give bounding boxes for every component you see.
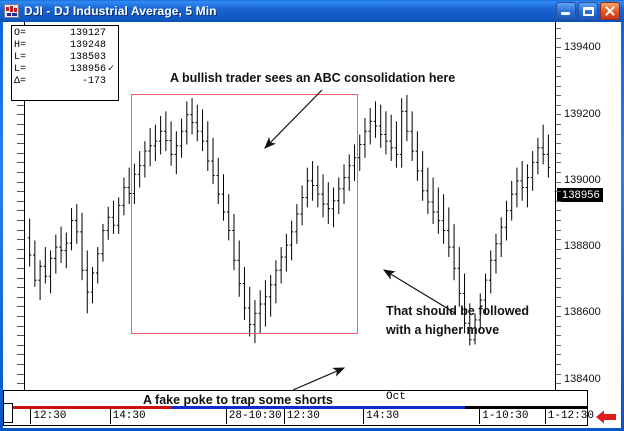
ohlc-bar bbox=[520, 161, 524, 201]
ohlc-bar bbox=[54, 235, 58, 274]
time-axis-label[interactable]: 14:30 bbox=[110, 409, 226, 424]
ohlc-bar bbox=[290, 221, 294, 261]
ohlc-bar bbox=[33, 240, 37, 286]
quote-value-last: 138956 bbox=[36, 64, 108, 76]
ohlc-bar bbox=[59, 227, 63, 263]
ohlc-bar bbox=[159, 116, 163, 154]
price-scale-label: 138400 bbox=[564, 373, 601, 385]
ohlc-bar bbox=[185, 101, 189, 144]
ohlc-bar bbox=[127, 168, 131, 204]
ohlc-bar bbox=[368, 108, 372, 144]
quote-value-change: -173 bbox=[36, 76, 108, 88]
price-scale-tick bbox=[556, 364, 561, 365]
quote-mark-change bbox=[108, 76, 115, 88]
quote-row-change: Δ= -173 bbox=[14, 76, 115, 88]
ohlc-bar bbox=[237, 240, 241, 296]
window-controls bbox=[556, 2, 620, 20]
price-scale-tick bbox=[556, 316, 561, 317]
ohlc-bar bbox=[489, 250, 493, 293]
ohlc-bar bbox=[416, 131, 420, 181]
ohlc-bar bbox=[80, 213, 84, 281]
ohlc-bar bbox=[222, 174, 226, 220]
price-scale-tick bbox=[556, 86, 561, 87]
quote-row-high: H= 139248 bbox=[14, 40, 115, 52]
price-scale-tick bbox=[556, 172, 561, 173]
price-scale-tick bbox=[556, 105, 561, 106]
maximize-button[interactable] bbox=[578, 2, 598, 20]
price-scale-tick bbox=[556, 383, 561, 384]
ohlc-bar bbox=[38, 260, 42, 300]
ohlc-bar bbox=[285, 234, 289, 272]
price-scale-label: 139000 bbox=[564, 174, 601, 186]
ohlc-bar bbox=[389, 115, 393, 161]
ohlc-bar bbox=[175, 131, 179, 174]
ohlc-bar bbox=[499, 217, 503, 257]
annotation-fake-poke: A fake poke to trap some shorts bbox=[143, 392, 333, 406]
price-scale-tick bbox=[556, 239, 561, 240]
ohlc-bar bbox=[536, 138, 540, 174]
chart-client-area: O= 139127 H= 139248 L= 138503 bbox=[3, 22, 621, 406]
ohlc-bar bbox=[49, 250, 53, 293]
quote-row-open: O= 139127 bbox=[14, 28, 115, 40]
ohlc-bar bbox=[547, 135, 551, 178]
time-axis-label[interactable]: 14:30 bbox=[363, 409, 479, 424]
time-axis-label[interactable]: 12:30 bbox=[284, 409, 363, 424]
price-scale-tick bbox=[556, 143, 561, 144]
screenshot-root: DJI - DJ Industrial Average, 5 Min bbox=[0, 0, 624, 431]
price-scale-tick bbox=[556, 230, 561, 231]
window-title: DJI - DJ Industrial Average, 5 Min bbox=[24, 4, 556, 18]
ohlc-bar bbox=[169, 121, 173, 165]
ohlc-bar bbox=[332, 188, 336, 228]
ohlc-bar bbox=[91, 267, 95, 303]
window-titlebar: DJI - DJ Industrial Average, 5 Min bbox=[0, 0, 624, 22]
quote-mark-open bbox=[108, 28, 115, 40]
ohlc-bar bbox=[347, 154, 351, 190]
ohlc-bar bbox=[274, 260, 278, 303]
ohlc-bar bbox=[358, 135, 362, 171]
ohlc-bar bbox=[44, 247, 48, 283]
ohlc-bar bbox=[190, 98, 194, 134]
ohlc-bar bbox=[437, 188, 441, 234]
ohlc-bar bbox=[65, 233, 69, 269]
ohlc-bar bbox=[442, 194, 446, 244]
ohlc-bar bbox=[85, 250, 89, 313]
chart-plot-area[interactable]: O= 139127 H= 139248 L= 138503 bbox=[3, 22, 555, 406]
ohlc-bar bbox=[337, 178, 341, 214]
price-scale-tick bbox=[556, 278, 561, 279]
ohlc-bar bbox=[180, 119, 184, 158]
ohlc-bar bbox=[269, 275, 273, 317]
ohlc-bar bbox=[321, 174, 325, 217]
ohlc-bar bbox=[258, 290, 262, 333]
ohlc-bar bbox=[148, 128, 152, 166]
ohlc-bar bbox=[400, 98, 404, 168]
price-scale-label: 139400 bbox=[564, 41, 601, 53]
ohlc-bar bbox=[138, 151, 142, 187]
price-scale-tick bbox=[556, 210, 561, 211]
ohlc-bar bbox=[505, 201, 509, 241]
price-scale-tick bbox=[556, 354, 561, 355]
ohlc-bar bbox=[70, 208, 74, 250]
price-scale-tick bbox=[556, 249, 561, 250]
ohlc-bar bbox=[143, 141, 147, 177]
annotation-higher-move-line1: That should be followed bbox=[386, 303, 529, 319]
quote-value-low: 138503 bbox=[36, 52, 108, 64]
ohlc-bar bbox=[211, 138, 215, 184]
price-scale-tick bbox=[556, 287, 561, 288]
quote-value-high: 139248 bbox=[36, 40, 108, 52]
ohlc-quote-box: O= 139127 H= 139248 L= 138503 bbox=[11, 25, 119, 101]
quote-mark-low bbox=[108, 52, 115, 64]
price-scale-tick bbox=[556, 297, 561, 298]
chart-window: DJI - DJ Industrial Average, 5 Min bbox=[0, 0, 624, 431]
price-scale-tick bbox=[556, 374, 561, 375]
ohlc-bar bbox=[232, 214, 236, 270]
price-scale-tick bbox=[556, 268, 561, 269]
ohlc-bar bbox=[410, 111, 414, 161]
ohlc-bar bbox=[374, 101, 378, 137]
ohlc-bar bbox=[379, 105, 383, 148]
price-scale-tick bbox=[556, 326, 561, 327]
ohlc-bar bbox=[384, 111, 388, 154]
price-scale-tick bbox=[556, 66, 561, 67]
quote-label-last: L= bbox=[14, 64, 36, 76]
time-axis-label[interactable]: 12:30 bbox=[30, 409, 109, 424]
price-scale-tick bbox=[556, 47, 561, 48]
price-scale-tick bbox=[556, 57, 561, 58]
ohlc-bar bbox=[28, 219, 32, 267]
current-price-label: 138956 bbox=[557, 188, 603, 202]
ohlc-bar bbox=[248, 287, 252, 337]
ohlc-bar bbox=[531, 151, 535, 191]
ohlc-bar bbox=[494, 234, 498, 274]
ohlc-bar bbox=[243, 267, 247, 320]
ohlc-bar bbox=[541, 125, 545, 165]
ohlc-bar bbox=[515, 168, 519, 208]
ohlc-bar bbox=[264, 280, 268, 326]
price-scale-tick bbox=[556, 134, 561, 135]
ohlc-bar bbox=[431, 178, 435, 224]
quote-label-high: H= bbox=[14, 40, 36, 52]
ohlc-bar bbox=[117, 197, 121, 233]
ohlc-bar bbox=[106, 207, 110, 240]
annotation-bullish-trader: A bullish trader sees an ABC consolidati… bbox=[170, 70, 455, 86]
ohlc-bar bbox=[327, 182, 331, 224]
price-scale[interactable]: 138956 139400139200139000138800138600138… bbox=[555, 22, 621, 406]
price-scale-tick bbox=[556, 124, 561, 125]
price-scale-tick bbox=[556, 95, 561, 96]
quote-label-open: O= bbox=[14, 28, 36, 40]
price-scale-tick bbox=[556, 201, 561, 202]
ohlc-bar bbox=[101, 224, 105, 262]
quote-mark-last: ✓ bbox=[108, 64, 115, 76]
quote-label-change: Δ= bbox=[14, 76, 36, 88]
ohlc-bar bbox=[122, 178, 126, 216]
ohlc-bar bbox=[447, 207, 451, 257]
price-scale-tick bbox=[556, 76, 561, 77]
ohlc-bar bbox=[458, 247, 462, 307]
ohlc-bar bbox=[342, 164, 346, 204]
ohlc-bar bbox=[405, 95, 409, 141]
ohlc-bar bbox=[363, 118, 367, 158]
quote-label-low: L= bbox=[14, 52, 36, 64]
price-scale-tick bbox=[556, 38, 561, 39]
ohlc-bar bbox=[154, 125, 158, 161]
ohlc-bar bbox=[133, 164, 137, 204]
ohlc-bar bbox=[421, 151, 425, 201]
ohlc-bar bbox=[510, 181, 514, 221]
ohlc-bar bbox=[227, 194, 231, 240]
ohlc-bar bbox=[253, 300, 257, 343]
time-label-row[interactable]: 12:3014:3028-10:3012:3014:301-10:301-12:… bbox=[3, 409, 588, 426]
price-scale-label: 138800 bbox=[564, 240, 601, 252]
ohlc-bar bbox=[206, 121, 210, 171]
quote-mark-high bbox=[108, 40, 115, 52]
price-scale-tick bbox=[556, 220, 561, 221]
time-axis-label[interactable]: 1-10:30 bbox=[479, 409, 544, 424]
price-scale-tick bbox=[556, 114, 561, 115]
ohlc-bar bbox=[316, 166, 320, 208]
ohlc-bar bbox=[201, 109, 205, 151]
ohlc-bar bbox=[306, 168, 310, 208]
ohlc-bar bbox=[395, 121, 399, 167]
ohlc-bar bbox=[426, 168, 430, 214]
price-scale-tick bbox=[556, 258, 561, 259]
ohlc-bar bbox=[216, 158, 220, 204]
price-scale-tick bbox=[556, 182, 561, 183]
scroll-handle[interactable] bbox=[3, 403, 13, 423]
quote-row-low: L= 138503 bbox=[14, 52, 115, 64]
price-scale-tick bbox=[556, 28, 561, 29]
ohlc-bar bbox=[164, 111, 168, 151]
price-scale-tick bbox=[556, 162, 561, 163]
price-scale-tick bbox=[556, 153, 561, 154]
scroll-left-arrow-icon[interactable] bbox=[595, 409, 617, 425]
ohlc-bar bbox=[112, 201, 116, 234]
price-scale-tick bbox=[556, 191, 561, 192]
price-scale-label: 139200 bbox=[564, 108, 601, 120]
close-button[interactable] bbox=[600, 2, 620, 20]
ohlc-bar bbox=[196, 105, 200, 141]
price-scale-tick bbox=[556, 306, 561, 307]
price-scale-tick bbox=[556, 345, 561, 346]
chart-app-icon bbox=[4, 4, 19, 18]
price-scale-tick bbox=[556, 335, 561, 336]
ohlc-bar bbox=[295, 204, 299, 244]
ohlc-bar bbox=[526, 164, 530, 207]
ohlc-bar bbox=[75, 204, 79, 244]
minimize-button[interactable] bbox=[556, 2, 576, 20]
ohlc-bar bbox=[300, 186, 304, 226]
time-axis-footer: Oct 12:3014:3028-10:3012:3014:301-10:301… bbox=[3, 406, 621, 428]
ohlc-bar bbox=[96, 247, 100, 283]
quote-row-last: L= 138956 ✓ bbox=[14, 64, 115, 76]
ohlc-bar bbox=[452, 224, 456, 280]
ohlc-bar bbox=[311, 161, 315, 201]
ohlc-bar bbox=[279, 247, 283, 283]
price-scale-label: 138600 bbox=[564, 306, 601, 318]
quote-value-open: 139127 bbox=[36, 28, 108, 40]
annotation-higher-move-line2: with a higher move bbox=[386, 322, 499, 338]
time-axis-label[interactable]: 28-10:30 bbox=[226, 409, 284, 424]
ohlc-bar bbox=[353, 144, 357, 180]
